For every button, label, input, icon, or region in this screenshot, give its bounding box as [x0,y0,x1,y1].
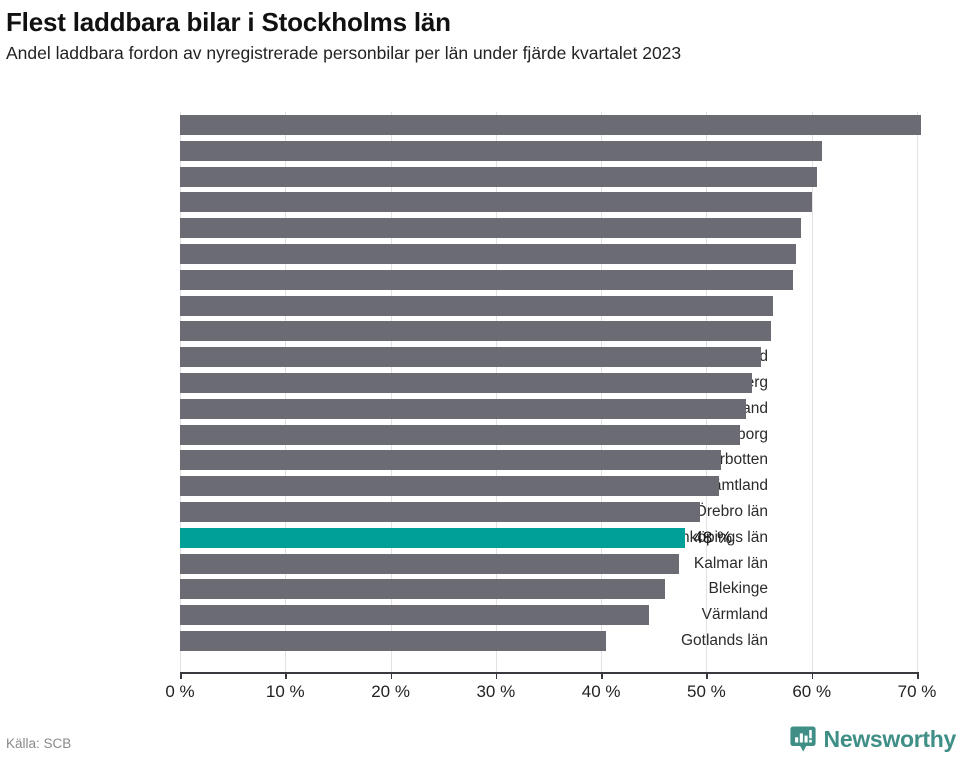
bar [180,244,796,264]
bar [180,579,665,599]
bar-row: Västernorrland [0,192,960,212]
x-axis-tick-label: 0 % [165,682,194,702]
bar-row: Västmanland [0,218,960,238]
newsworthy-logo[interactable]: Newsworthy [790,726,956,753]
x-axis-tick-label: 60 % [792,682,831,702]
x-axis-tick [917,672,919,679]
bar [180,631,606,651]
bar-row: Skåne [0,296,960,316]
chart-footer: Källa: SCB Newsworthy [0,708,960,760]
x-axis-tick [180,672,182,679]
bar-row: Västerbotten [0,244,960,264]
x-axis-tick-label: 40 % [582,682,621,702]
bar-chart-speech-bubble-icon [790,726,816,753]
x-axis-tick [285,672,287,679]
bar-row: Norrbotten [0,450,960,470]
bar-row: Östergötland [0,321,960,341]
bar-row: Dalarna [0,141,960,161]
bar [180,476,719,496]
bar [180,218,801,238]
bar-value-label: 48 % [693,528,732,548]
category-label: Gotlands län [681,631,768,651]
chart-subtitle: Andel laddbara fordon av nyregistrerade … [6,43,954,63]
bar-row: Värmland [0,605,960,625]
bar [180,296,773,316]
category-label: Kalmar län [694,554,768,574]
source-note: Källa: SCB [6,736,71,751]
bar [180,502,700,522]
bar [180,321,771,341]
bar [180,399,746,419]
x-axis-tick-label: 70 % [898,682,937,702]
bar-row: Örebro län [0,502,960,522]
bar [180,554,679,574]
x-axis-tick [496,672,498,679]
x-axis-tick [391,672,393,679]
bar-row: Jönköpings län48 % [0,528,960,548]
chart-header: Flest laddbara bilar i Stockholms län An… [0,0,960,63]
x-axis-tick-label: 20 % [371,682,410,702]
bar-row: Gävleborg [0,425,960,445]
x-axis-tick [812,672,814,679]
x-axis-tick-label: 50 % [687,682,726,702]
bar-row: Kronoberg [0,373,960,393]
bar [180,192,812,212]
bar [180,450,721,470]
bar [180,373,752,393]
category-label: Örebro län [695,502,768,522]
bar-row: Stockholms län [0,115,960,135]
bar [180,270,793,290]
x-axis-tick-label: 10 % [266,682,305,702]
bar [180,347,761,367]
category-label: Blekinge [709,579,768,599]
brand-name: Newsworthy [824,728,956,751]
bar-row: Uppsala län [0,270,960,290]
bar [180,141,822,161]
bar-row: Jämtland [0,476,960,496]
bar [180,425,740,445]
bar [180,167,817,187]
x-axis-tick [706,672,708,679]
x-axis-line [180,672,918,674]
bar-highlighted [180,528,685,548]
bar-row: Halland [0,167,960,187]
bar [180,605,649,625]
bar-row: Gotlands län [0,631,960,651]
category-label: Värmland [702,605,768,625]
x-axis-tick-label: 30 % [476,682,515,702]
bar-row: Södermanland [0,347,960,367]
bar-row: Västra Götaland [0,399,960,419]
page-title: Flest laddbara bilar i Stockholms län [6,8,954,37]
bar-row: Kalmar län [0,554,960,574]
bar-row: Blekinge [0,579,960,599]
x-axis-tick [601,672,603,679]
bar [180,115,921,135]
bar-chart: 0 %10 %20 %30 %40 %50 %60 %70 %Stockholm… [0,108,960,708]
